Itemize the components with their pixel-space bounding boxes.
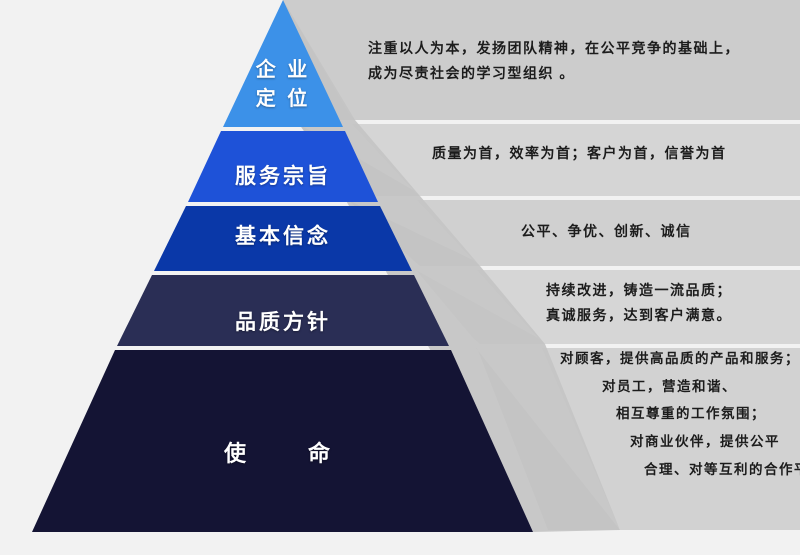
tier-shape-mission[interactable] — [32, 350, 533, 532]
tier-description-mission: 对顾客，提供高品质的产品和服务； 对员工，营造和谐、 相互尊重的工作氛围； 对商… — [560, 345, 800, 483]
tier-description-service-purpose: 质量为首，效率为首；客户为首，信誉为首 — [432, 141, 727, 166]
tier-shape-core-belief[interactable] — [154, 206, 412, 271]
tier-shape-quality-policy[interactable] — [117, 275, 449, 346]
description-line: 对员工，营造和谐、 — [602, 373, 800, 401]
description-line: 持续改进，铸造一流品质； — [546, 278, 732, 303]
description-line: 质量为首，效率为首；客户为首，信誉为首 — [432, 141, 727, 166]
tier-description-quality-policy: 持续改进，铸造一流品质； 真诚服务，达到客户满意。 — [546, 278, 732, 327]
tier-description-core-belief: 公平、争优、创新、诚信 — [521, 219, 692, 244]
description-line: 注重以人为本，发扬团队精神，在公平竞争的基础上， — [368, 36, 740, 61]
description-line: 真诚服务，达到客户满意。 — [546, 303, 732, 328]
description-line: 对顾客，提供高品质的产品和服务； — [560, 345, 800, 373]
description-line: 公平、争优、创新、诚信 — [521, 219, 692, 244]
tier-description-positioning: 注重以人为本，发扬团队精神，在公平竞争的基础上， 成为尽责社会的学习型组织 。 — [368, 36, 740, 85]
tier-shape-service-purpose[interactable] — [188, 131, 378, 202]
description-line: 相互尊重的工作氛围； — [616, 400, 800, 428]
description-line: 合理、对等互利的合作平台。 — [644, 456, 800, 484]
description-line: 对商业伙伴，提供公平 — [630, 428, 800, 456]
description-line: 成为尽责社会的学习型组织 。 — [368, 61, 740, 86]
pyramid-diagram: 企 业 定 位 服务宗旨 基本信念 品质方针 使 命 注重以人为本，发扬团队精神… — [0, 0, 800, 555]
